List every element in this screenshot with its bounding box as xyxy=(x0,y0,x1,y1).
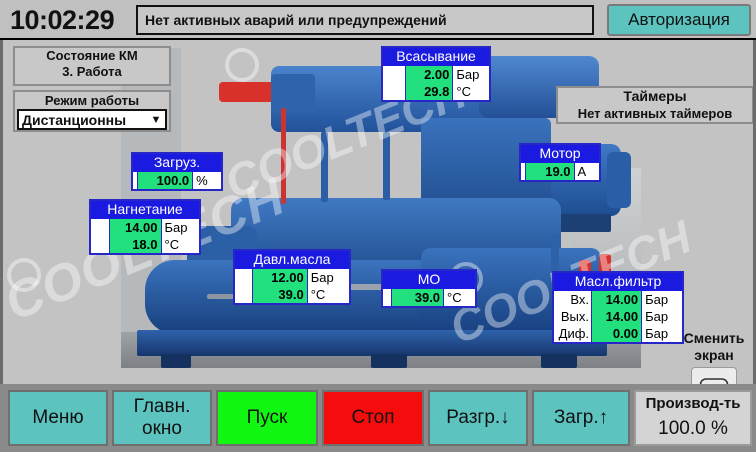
measurement-row-value: 14.00 xyxy=(109,219,161,236)
measurement-row-value: 39.0 xyxy=(391,289,444,306)
work-mode-select[interactable]: Дистанционны ▼ xyxy=(17,109,167,130)
measurement-row-value: 100.0 xyxy=(137,172,193,189)
measurement-title: Мотор xyxy=(521,145,599,163)
chevron-down-icon[interactable]: ▼ xyxy=(147,111,165,128)
load-button[interactable]: Загр.↑ xyxy=(532,390,630,446)
measurement-row-value: 2.00 xyxy=(405,66,453,83)
screen-switch-label-line2: экран xyxy=(675,347,753,364)
productivity-panel: Производ-ть 100.0 % xyxy=(634,390,752,446)
measurement-row-value: 12.00 xyxy=(252,269,308,286)
km-state-panel: Состояние КМ 3. Работа xyxy=(13,46,171,86)
measurement-motor: Мотор 19.0 A xyxy=(519,143,601,182)
measurement-row-label xyxy=(383,289,391,306)
measurement-mo: МО 39.0 °C xyxy=(381,269,477,308)
measurement-row-unit: A xyxy=(575,163,599,180)
start-button[interactable]: Пуск xyxy=(216,390,318,446)
bottom-toolbar: Меню Главн. окно Пуск Стоп Разгр.↓ Загр.… xyxy=(0,384,756,452)
alarm-message-bar: Нет активных аварий или предупреждений xyxy=(136,5,594,35)
measurement-row-label: Вых. xyxy=(554,308,591,325)
hmi-screen: 10:02:29 Нет активных аварий или предупр… xyxy=(0,0,756,452)
measurement-row-value: 18.0 xyxy=(109,236,161,253)
screen-switch-label-line1: Сменить xyxy=(675,330,753,347)
timers-panel: Таймеры Нет активных таймеров xyxy=(556,86,754,124)
measurement-row-label xyxy=(383,83,405,100)
measurement-row-label xyxy=(383,66,405,83)
km-state-value: 3. Работа xyxy=(15,64,169,80)
measurement-title: Масл.фильтр xyxy=(554,273,682,291)
return-loop-icon[interactable] xyxy=(691,367,737,384)
measurement-row-value: 29.8 xyxy=(405,83,453,100)
measurement-title: Загруз. xyxy=(133,154,221,172)
measurement-row-unit: Бар xyxy=(162,219,199,236)
measurement-row-value: 14.00 xyxy=(591,291,642,308)
measurement-title: Давл.масла xyxy=(235,251,349,269)
measurement-row-unit: % xyxy=(193,172,221,189)
measurement-row-label xyxy=(91,219,109,236)
measurement-row-value: 19.0 xyxy=(525,163,575,180)
measurement-row-value: 14.00 xyxy=(591,308,642,325)
measurement-row-value: 0.00 xyxy=(591,325,642,342)
menu-button[interactable]: Меню xyxy=(8,390,108,446)
measurement-row-unit: Бар xyxy=(642,291,682,308)
work-mode-selected-value: Дистанционны xyxy=(22,112,126,128)
measurement-suction: Всасывание 2.00 Бар 29.8 °C xyxy=(381,46,491,102)
measurement-row-label xyxy=(235,269,252,286)
screen-switch-control[interactable]: Сменить экран xyxy=(675,330,753,384)
measurement-row-unit: °C xyxy=(162,236,199,253)
measurement-row-label xyxy=(91,236,109,253)
measurement-title: Всасывание xyxy=(383,48,489,66)
measurement-row-unit: Бар xyxy=(453,66,489,83)
timers-title: Таймеры xyxy=(558,88,752,105)
top-status-bar: 10:02:29 Нет активных аварий или предупр… xyxy=(0,0,756,40)
timers-value: Нет активных таймеров xyxy=(558,105,752,122)
measurement-row-unit: Бар xyxy=(308,269,349,286)
measurement-row-unit: °C xyxy=(453,83,489,100)
return-loop-icon-svg xyxy=(699,376,729,384)
stop-button[interactable]: Стоп xyxy=(322,390,424,446)
measurement-oil-pressure: Давл.масла 12.00 Бар 39.0 °C xyxy=(233,249,351,305)
main-window-button[interactable]: Главн. окно xyxy=(112,390,212,446)
measurement-oil-filter: Масл.фильтр Вх. 14.00 Бар Вых. 14.00 Бар… xyxy=(552,271,684,344)
measurement-row-value: 39.0 xyxy=(252,286,308,303)
unload-button[interactable]: Разгр.↓ xyxy=(428,390,528,446)
km-state-title: Состояние КМ xyxy=(15,48,169,64)
measurement-row-label: Диф. xyxy=(554,325,591,342)
measurement-row-unit: Бар xyxy=(642,308,682,325)
measurement-row-label xyxy=(235,286,252,303)
measurement-title: МО xyxy=(383,271,475,289)
authorization-button[interactable]: Авторизация xyxy=(607,4,751,36)
process-diagram-canvas: COOLTECH COOLTECH COOLTECH Состояние КМ … xyxy=(0,40,756,384)
work-mode-title: Режим работы xyxy=(15,92,169,109)
productivity-value: 100.0 % xyxy=(636,416,750,442)
measurement-capacity: Загруз. 100.0 % xyxy=(131,152,223,191)
measurement-row-unit: °C xyxy=(308,286,349,303)
measurement-row-unit: °C xyxy=(444,289,475,306)
measurement-title: Нагнетание xyxy=(91,201,199,219)
clock: 10:02:29 xyxy=(10,4,132,36)
productivity-label: Производ-ть xyxy=(636,392,750,416)
measurement-row-label: Вх. xyxy=(554,291,591,308)
measurement-discharge: Нагнетание 14.00 Бар 18.0 °C xyxy=(89,199,201,255)
